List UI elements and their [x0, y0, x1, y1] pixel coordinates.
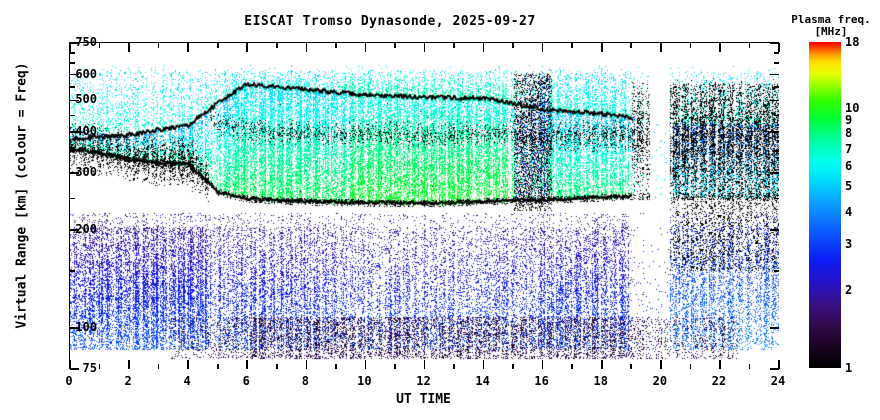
y-tick-minor — [774, 86, 779, 88]
colorbar-tick-label: 7 — [845, 142, 852, 156]
x-tick-label: 16 — [522, 374, 562, 388]
y-tick-minor — [774, 115, 779, 117]
y-tick-minor — [70, 115, 75, 117]
x-tick-minor — [158, 43, 160, 48]
x-tick-major — [483, 360, 485, 369]
x-tick-minor — [276, 364, 278, 369]
y-tick-major — [770, 74, 779, 76]
y-tick-label: 600 — [57, 67, 97, 81]
x-tick-minor — [276, 43, 278, 48]
y-tick-minor — [70, 270, 75, 272]
x-tick-major — [187, 43, 189, 52]
x-tick-minor — [335, 43, 337, 48]
x-tick-label: 18 — [581, 374, 621, 388]
y-tick-minor — [70, 52, 75, 54]
y-tick-major — [770, 100, 779, 102]
x-tick-minor — [690, 364, 692, 369]
y-tick-label: 75 — [57, 361, 97, 375]
y-tick-minor — [774, 270, 779, 272]
x-tick-minor — [630, 43, 632, 48]
x-tick-minor — [99, 43, 101, 48]
y-tick-minor — [774, 62, 779, 64]
y-tick-minor — [70, 150, 75, 152]
x-tick-minor — [630, 364, 632, 369]
x-tick-major — [778, 43, 780, 52]
x-tick-minor — [394, 364, 396, 369]
x-tick-label: 6 — [226, 374, 266, 388]
y-tick-major — [770, 327, 779, 329]
colorbar-tick-label: 18 — [845, 35, 859, 49]
y-tick-minor — [774, 198, 779, 200]
x-tick-major — [719, 360, 721, 369]
x-tick-major — [601, 43, 603, 52]
y-tick-major — [770, 131, 779, 133]
x-tick-major — [306, 360, 308, 369]
x-tick-major — [778, 360, 780, 369]
colorbar-tick-label: 2 — [845, 283, 852, 297]
x-tick-major — [246, 360, 248, 369]
x-tick-minor — [453, 43, 455, 48]
x-tick-minor — [335, 364, 337, 369]
x-tick-minor — [749, 364, 751, 369]
colorbar-tick-label: 6 — [845, 159, 852, 173]
ionogram-plot-page: EISCAT Tromso Dynasonde, 2025-09-27 7510… — [0, 0, 880, 420]
x-tick-major — [128, 43, 130, 52]
y-tick-minor — [774, 150, 779, 152]
x-tick-label: 0 — [49, 374, 89, 388]
colorbar-tick-label: 9 — [845, 113, 852, 127]
x-tick-minor — [394, 43, 396, 48]
colorbar-tick-label: 8 — [845, 126, 852, 140]
x-tick-label: 2 — [108, 374, 148, 388]
x-tick-label: 22 — [699, 374, 739, 388]
x-tick-major — [246, 43, 248, 52]
x-tick-minor — [690, 43, 692, 48]
y-axis-title: Virtual Range [km] (colour = Freq) — [15, 46, 30, 346]
y-tick-major — [770, 229, 779, 231]
x-axis-title: UT TIME — [69, 392, 778, 407]
colorbar-tick-label: 5 — [845, 179, 852, 193]
x-tick-major — [542, 360, 544, 369]
y-tick-minor — [70, 198, 75, 200]
x-tick-minor — [749, 43, 751, 48]
colorbar-title-line2: [MHz] — [814, 25, 847, 38]
y-tick-minor — [774, 52, 779, 54]
x-tick-major — [187, 360, 189, 369]
x-tick-major — [365, 43, 367, 52]
x-tick-minor — [512, 364, 514, 369]
x-tick-minor — [453, 364, 455, 369]
x-tick-label: 24 — [758, 374, 798, 388]
x-tick-minor — [158, 364, 160, 369]
y-tick-label: 200 — [57, 222, 97, 236]
x-tick-label: 8 — [285, 374, 325, 388]
x-tick-major — [660, 43, 662, 52]
colorbar-gradient — [809, 42, 841, 368]
colorbar-tick-label: 3 — [845, 237, 852, 251]
x-tick-major — [660, 360, 662, 369]
x-tick-minor — [571, 43, 573, 48]
x-tick-major — [424, 43, 426, 52]
x-tick-label: 12 — [404, 374, 444, 388]
y-tick-minor — [70, 86, 75, 88]
x-tick-major — [719, 43, 721, 52]
x-tick-minor — [217, 364, 219, 369]
y-tick-label: 750 — [57, 35, 97, 49]
y-tick-label: 300 — [57, 165, 97, 179]
ionogram-data-canvas — [70, 43, 779, 369]
y-tick-minor — [70, 62, 75, 64]
y-tick-label: 500 — [57, 92, 97, 106]
colorbar-tick-label: 1 — [845, 361, 852, 375]
colorbar-box — [809, 42, 841, 368]
x-tick-label: 10 — [344, 374, 384, 388]
x-tick-major — [601, 360, 603, 369]
x-tick-major — [542, 43, 544, 52]
y-tick-label: 100 — [57, 320, 97, 334]
y-tick-major — [770, 172, 779, 174]
x-tick-major — [365, 360, 367, 369]
colorbar-title: Plasma freq. [MHz] — [782, 14, 880, 38]
x-tick-label: 4 — [167, 374, 207, 388]
x-tick-major — [483, 43, 485, 52]
plot-axes-area — [69, 42, 778, 368]
y-tick-label: 400 — [57, 124, 97, 138]
x-tick-label: 14 — [463, 374, 503, 388]
page-title: EISCAT Tromso Dynasonde, 2025-09-27 — [0, 14, 780, 29]
x-tick-major — [306, 43, 308, 52]
x-tick-major — [128, 360, 130, 369]
x-tick-minor — [217, 43, 219, 48]
x-tick-minor — [571, 364, 573, 369]
colorbar-tick-label: 4 — [845, 205, 852, 219]
x-tick-major — [424, 360, 426, 369]
x-tick-minor — [99, 364, 101, 369]
x-tick-minor — [512, 43, 514, 48]
x-tick-label: 20 — [640, 374, 680, 388]
